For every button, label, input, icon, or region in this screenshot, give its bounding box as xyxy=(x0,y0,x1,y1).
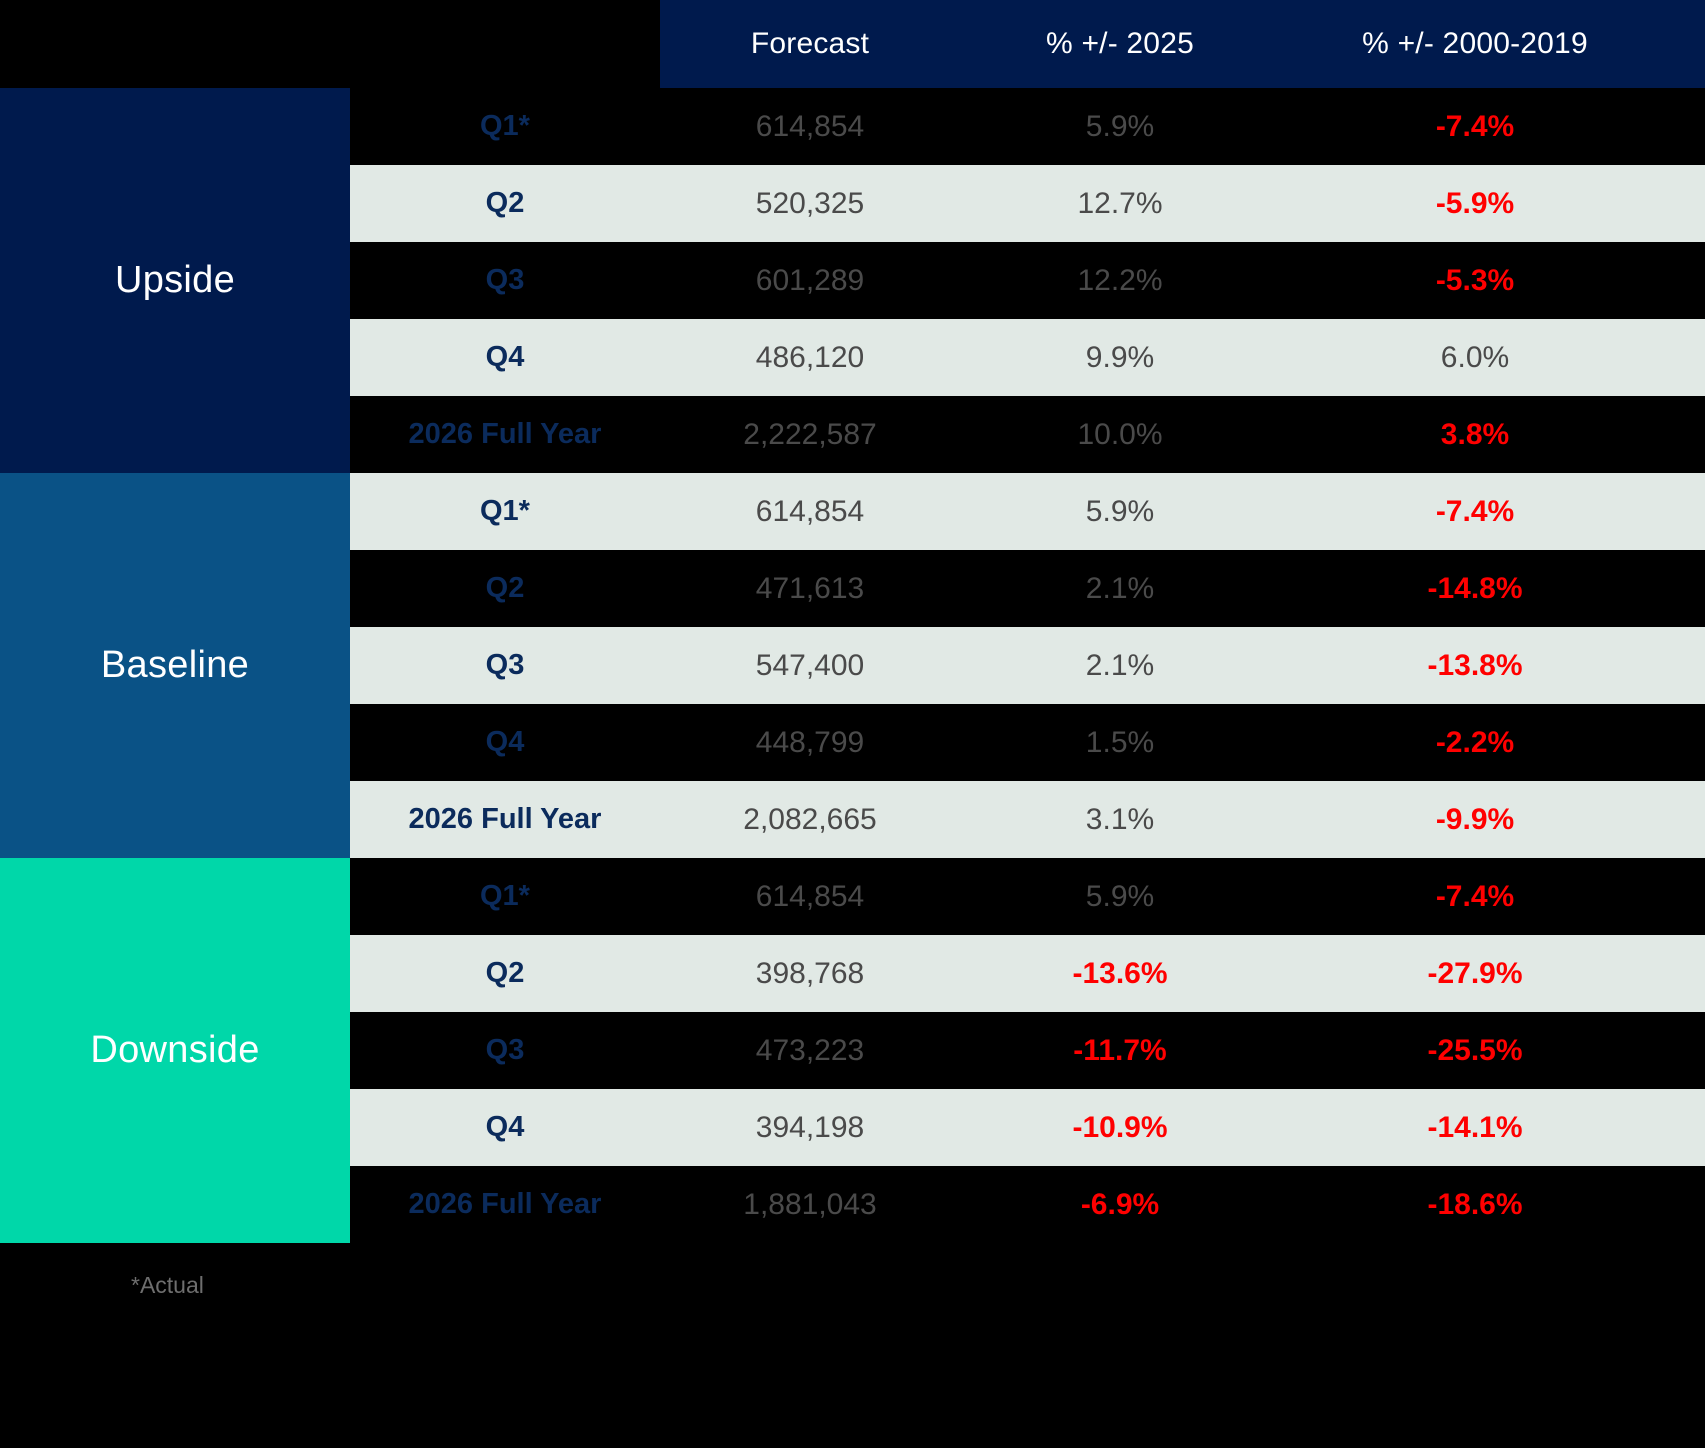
cell-pct-2000-2019: -14.8% xyxy=(1280,572,1670,606)
cell-pct-2000-2019: -9.9% xyxy=(1280,803,1670,837)
cell-pct-2025: 10.0% xyxy=(960,418,1280,452)
cell-pct-2025: 1.5% xyxy=(960,726,1280,760)
table-row: Q4394,198-10.9%-14.1% xyxy=(350,1089,1705,1166)
cell-period: Q2 xyxy=(350,187,660,220)
cell-period: Q3 xyxy=(350,649,660,682)
cell-pct-2000-2019: -7.4% xyxy=(1280,495,1670,529)
table-header-bar: Forecast % +/- 2025 % +/- 2000-2019 xyxy=(660,0,1705,88)
cell-period: Q1* xyxy=(350,110,660,143)
cell-pct-2000-2019: 3.8% xyxy=(1280,418,1670,452)
cell-forecast: 614,854 xyxy=(660,110,960,144)
cell-forecast: 394,198 xyxy=(660,1111,960,1145)
cell-pct-2025: 3.1% xyxy=(960,803,1280,837)
cell-pct-2025: 5.9% xyxy=(960,880,1280,914)
table-row: Q2471,6132.1%-14.8% xyxy=(350,550,1705,627)
cell-forecast: 601,289 xyxy=(660,264,960,298)
cell-period: 2026 Full Year xyxy=(350,1188,660,1221)
table-row: Q1*614,8545.9%-7.4% xyxy=(350,858,1705,935)
cell-forecast: 614,854 xyxy=(660,495,960,529)
cell-pct-2025: -10.9% xyxy=(960,1111,1280,1145)
cell-pct-2000-2019: -5.9% xyxy=(1280,187,1670,221)
table-row: 2026 Full Year2,222,58710.0%3.8% xyxy=(350,396,1705,473)
cell-forecast: 520,325 xyxy=(660,187,960,221)
cell-period: Q3 xyxy=(350,264,660,297)
table-row: Q4448,7991.5%-2.2% xyxy=(350,704,1705,781)
cell-pct-2000-2019: -13.8% xyxy=(1280,649,1670,683)
cell-pct-2025: 9.9% xyxy=(960,341,1280,375)
cell-period: Q1* xyxy=(350,495,660,528)
cell-pct-2000-2019: 6.0% xyxy=(1280,341,1670,375)
cell-period: Q2 xyxy=(350,572,660,605)
cell-pct-2000-2019: -2.2% xyxy=(1280,726,1670,760)
table-row: Q2398,768-13.6%-27.9% xyxy=(350,935,1705,1012)
table-row: Q1*614,8545.9%-7.4% xyxy=(350,88,1705,165)
cell-period: Q4 xyxy=(350,1111,660,1144)
cell-forecast: 471,613 xyxy=(660,572,960,606)
scenario-block-upside: Upside xyxy=(0,88,350,473)
table-row: 2026 Full Year1,881,043-6.9%-18.6% xyxy=(350,1166,1705,1243)
table-row: Q2520,32512.7%-5.9% xyxy=(350,165,1705,242)
cell-pct-2025: 5.9% xyxy=(960,110,1280,144)
table-row: 2026 Full Year2,082,6653.1%-9.9% xyxy=(350,781,1705,858)
cell-pct-2000-2019: -7.4% xyxy=(1280,880,1670,914)
cell-forecast: 398,768 xyxy=(660,957,960,991)
cell-pct-2000-2019: -18.6% xyxy=(1280,1188,1670,1222)
scenario-block-downside: Downside xyxy=(0,858,350,1243)
cell-pct-2025: 2.1% xyxy=(960,572,1280,606)
cell-pct-2025: 2.1% xyxy=(960,649,1280,683)
cell-pct-2000-2019: -5.3% xyxy=(1280,264,1670,298)
cell-period: Q4 xyxy=(350,341,660,374)
table-row: Q3473,223-11.7%-25.5% xyxy=(350,1012,1705,1089)
cell-pct-2025: -13.6% xyxy=(960,957,1280,991)
cell-pct-2025: 12.2% xyxy=(960,264,1280,298)
cell-forecast: 486,120 xyxy=(660,341,960,375)
cell-pct-2025: -11.7% xyxy=(960,1034,1280,1068)
footnote-actual: *Actual xyxy=(131,1272,204,1299)
scenario-column: UpsideBaselineDownside xyxy=(0,88,350,1275)
table-row: Q4486,1209.9%6.0% xyxy=(350,319,1705,396)
cell-period: 2026 Full Year xyxy=(350,803,660,836)
cell-forecast: 448,799 xyxy=(660,726,960,760)
table-row: Q1*614,8545.9%-7.4% xyxy=(350,473,1705,550)
column-header-pct-2025: % +/- 2025 xyxy=(960,27,1280,61)
cell-pct-2000-2019: -25.5% xyxy=(1280,1034,1670,1068)
scenario-label: Baseline xyxy=(101,644,249,687)
table-rows-area: Q1*614,8545.9%-7.4%Q2520,32512.7%-5.9%Q3… xyxy=(350,88,1705,1243)
cell-pct-2025: 12.7% xyxy=(960,187,1280,221)
cell-pct-2025: -6.9% xyxy=(960,1188,1280,1222)
scenario-label: Downside xyxy=(90,1029,259,1072)
scenario-block-baseline: Baseline xyxy=(0,473,350,858)
cell-period: Q2 xyxy=(350,957,660,990)
cell-period: Q4 xyxy=(350,726,660,759)
cell-forecast: 614,854 xyxy=(660,880,960,914)
table-row: Q3601,28912.2%-5.3% xyxy=(350,242,1705,319)
cell-pct-2000-2019: -7.4% xyxy=(1280,110,1670,144)
cell-pct-2025: 5.9% xyxy=(960,495,1280,529)
scenario-label: Upside xyxy=(115,259,235,302)
cell-forecast: 1,881,043 xyxy=(660,1188,960,1222)
cell-forecast: 2,082,665 xyxy=(660,803,960,837)
cell-forecast: 2,222,587 xyxy=(660,418,960,452)
column-header-forecast: Forecast xyxy=(660,27,960,61)
cell-period: Q1* xyxy=(350,880,660,913)
column-header-pct-2000-2019: % +/- 2000-2019 xyxy=(1280,27,1670,61)
cell-period: Q3 xyxy=(350,1034,660,1067)
cell-pct-2000-2019: -27.9% xyxy=(1280,957,1670,991)
cell-pct-2000-2019: -14.1% xyxy=(1280,1111,1670,1145)
table-row: Q3547,4002.1%-13.8% xyxy=(350,627,1705,704)
cell-forecast: 547,400 xyxy=(660,649,960,683)
cell-period: 2026 Full Year xyxy=(350,418,660,451)
cell-forecast: 473,223 xyxy=(660,1034,960,1068)
